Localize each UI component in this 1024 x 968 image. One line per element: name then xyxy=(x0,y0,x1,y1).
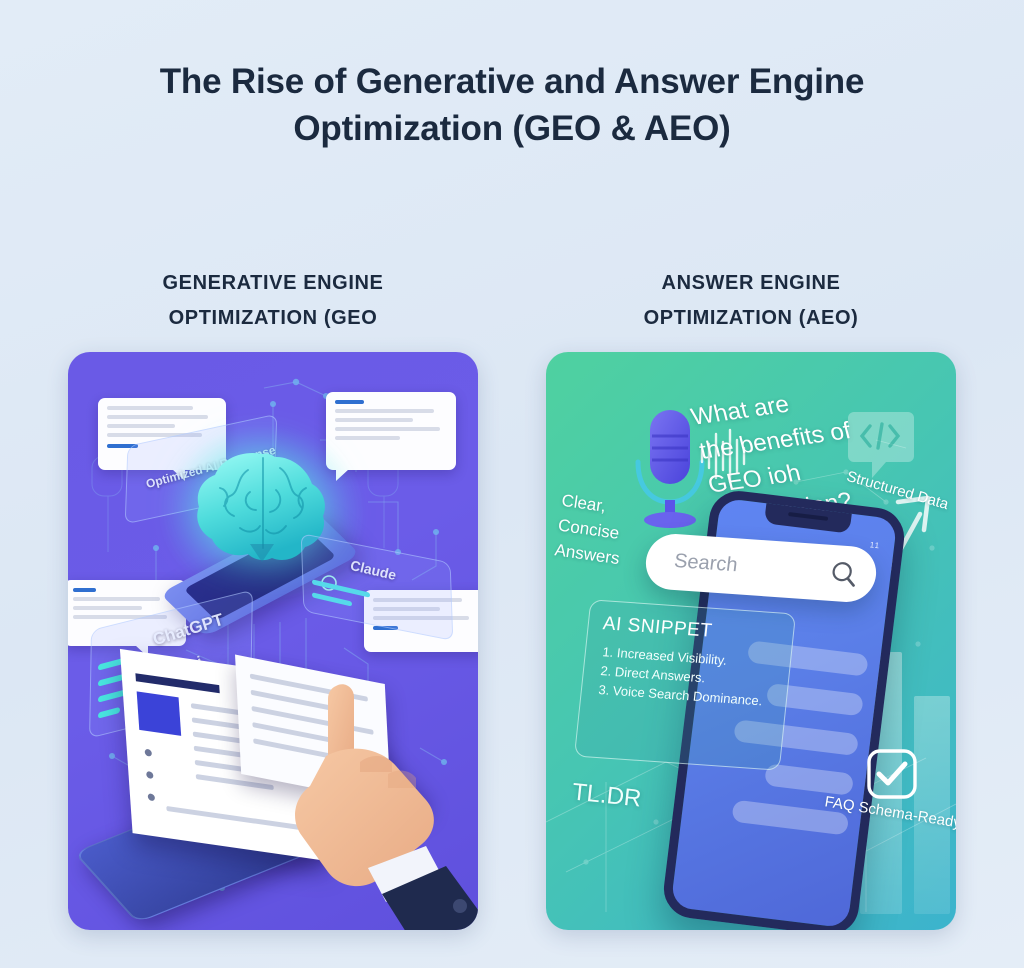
page-title: The Rise of Generative and Answer Engine… xyxy=(0,58,1024,152)
phone-notch xyxy=(764,503,852,533)
column-header-aeo-line-1: ANSWER ENGINE xyxy=(551,266,951,301)
column-header-geo: GENERATIVE ENGINE OPTIMIZATION (GEO xyxy=(73,266,473,336)
column-header-aeo: ANSWER ENGINE OPTIMIZATION (AEO) xyxy=(551,266,951,336)
phone-status-bar: 11 xyxy=(869,540,880,550)
clear-concise-answers-label: Clear, Concise Answers xyxy=(553,488,628,571)
column-header-geo-line-1: GENERATIVE ENGINE xyxy=(73,266,473,301)
ai-snippet-heading: AI SNIPPET xyxy=(602,613,780,647)
search-icon[interactable] xyxy=(828,559,859,589)
search-placeholder: Search xyxy=(673,550,739,577)
ai-snippet-list: Increased Visibility. Direct Answers. Vo… xyxy=(595,642,777,711)
infographic-canvas: The Rise of Generative and Answer Engine… xyxy=(0,0,1024,968)
bar-chart-icon xyxy=(914,696,950,914)
column-header-aeo-line-2: OPTIMIZATION (AEO) xyxy=(551,301,951,336)
page-title-line-1: The Rise of Generative and Answer Engine xyxy=(160,62,865,101)
pointing-hand-icon xyxy=(264,682,478,930)
aeo-illustration-panel: What are the benefits of GEO ioh Vole'ir… xyxy=(546,352,956,930)
column-header-geo-line-2: OPTIMIZATION (GEO xyxy=(73,301,473,336)
phone-speaker xyxy=(788,512,828,521)
ai-snippet-card: AI SNIPPET Increased Visibility. Direct … xyxy=(574,599,796,771)
page-title-line-2: Optimization (GEO & AEO) xyxy=(0,105,1024,152)
checkbox-check-icon xyxy=(866,748,918,800)
geo-illustration-panel: Optimized AI Response xyxy=(68,352,478,930)
